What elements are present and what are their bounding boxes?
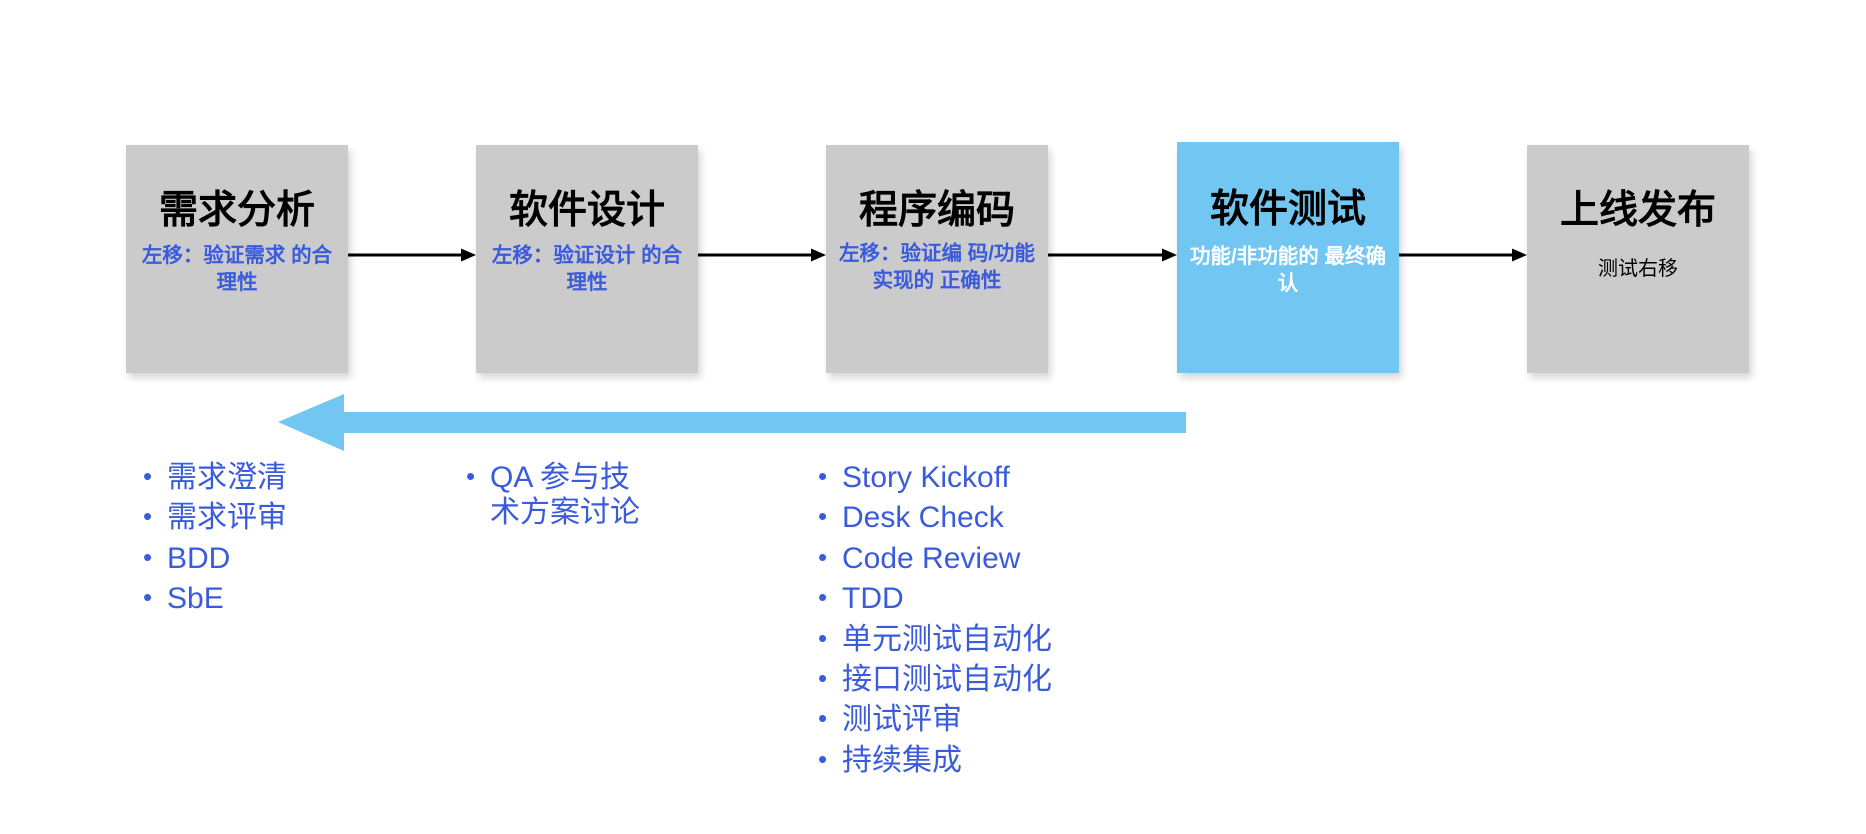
list-item-label: 需求澄清 <box>167 460 373 495</box>
stage-subtitle: 功能/非功能的 最终确认 <box>1188 243 1388 298</box>
list-item: • SbE <box>143 581 373 616</box>
stage-subtitle: 左移：验证需求 的合理性 <box>137 242 337 297</box>
stage-subtitle: 左移：验证编 码/功能实现的 正确性 <box>839 240 1035 295</box>
bullet-icon: • <box>143 460 167 493</box>
bullet-icon: • <box>143 541 167 574</box>
list-item-label: Desk Check <box>842 500 1118 535</box>
connector-arrow-1 <box>348 246 476 264</box>
list-item: • 单元测试自动化 <box>818 622 1118 657</box>
connector-arrow-2 <box>698 246 826 264</box>
list-item-label: 需求评审 <box>167 500 373 535</box>
list-item: • 测试评审 <box>818 702 1118 737</box>
stage-box-coding: 程序编码 左移：验证编 码/功能实现的 正确性 <box>826 145 1048 373</box>
bullet-icon: • <box>143 500 167 533</box>
list-item-label: QA 参与技 术方案讨论 <box>490 460 706 531</box>
list-item-label: BDD <box>167 541 373 576</box>
list-item-label: TDD <box>842 581 1118 616</box>
bullet-icon: • <box>818 622 842 655</box>
bullet-icon: • <box>818 460 842 493</box>
stage-box-design: 软件设计 左移：验证设计 的合理性 <box>476 145 698 373</box>
list-item-label: SbE <box>167 581 373 616</box>
list-item: • 接口测试自动化 <box>818 662 1118 697</box>
connector-arrow-3 <box>1048 246 1177 264</box>
stage-title: 需求分析 <box>159 191 315 232</box>
list-item: • TDD <box>818 581 1118 616</box>
shift-left-arrow <box>278 394 1186 452</box>
list-item-label: 测试评审 <box>842 702 1118 737</box>
stage-title: 软件测试 <box>1210 190 1366 231</box>
bullet-list-requirements: • 需求澄清 • 需求评审 • BDD • SbE <box>143 460 373 622</box>
list-item-label: 单元测试自动化 <box>842 622 1118 657</box>
list-item-label: Story Kickoff <box>842 460 1118 495</box>
list-item-label: 持续集成 <box>842 743 1118 778</box>
list-item-label: 接口测试自动化 <box>842 662 1118 697</box>
list-item: • QA 参与技 术方案讨论 <box>466 460 706 531</box>
list-item: • Story Kickoff <box>818 460 1118 495</box>
bullet-icon: • <box>818 662 842 695</box>
connector-arrow-4 <box>1399 246 1527 264</box>
list-item: • 需求澄清 <box>143 460 373 495</box>
list-item: • BDD <box>143 541 373 576</box>
diagram-canvas: 需求分析 左移：验证需求 的合理性 软件设计 左移：验证设计 的合理性 程序编码… <box>0 0 1866 834</box>
stage-title: 程序编码 <box>859 191 1015 232</box>
stage-box-requirements: 需求分析 左移：验证需求 的合理性 <box>126 145 348 373</box>
stage-title: 上线发布 <box>1560 191 1716 232</box>
bullet-icon: • <box>818 702 842 735</box>
list-item: • Desk Check <box>818 500 1118 535</box>
bullet-list-coding: • Story Kickoff • Desk Check • Code Revi… <box>818 460 1118 783</box>
bullet-icon: • <box>143 581 167 614</box>
bullet-list-design: • QA 参与技 术方案讨论 <box>466 460 706 536</box>
bullet-icon: • <box>818 541 842 574</box>
bullet-icon: • <box>818 743 842 776</box>
stage-box-release: 上线发布 测试右移 <box>1527 145 1749 373</box>
list-item: • 需求评审 <box>143 500 373 535</box>
bullet-icon: • <box>818 581 842 614</box>
stage-title: 软件设计 <box>509 191 665 232</box>
stage-box-testing: 软件测试 功能/非功能的 最终确认 <box>1177 142 1399 373</box>
list-item: • Code Review <box>818 541 1118 576</box>
stage-subtitle: 左移：验证设计 的合理性 <box>487 242 687 297</box>
list-item: • 持续集成 <box>818 743 1118 778</box>
bullet-icon: • <box>818 500 842 533</box>
stage-subtitle: 测试右移 <box>1538 256 1738 283</box>
bullet-icon: • <box>466 460 490 493</box>
list-item-label: Code Review <box>842 541 1118 576</box>
